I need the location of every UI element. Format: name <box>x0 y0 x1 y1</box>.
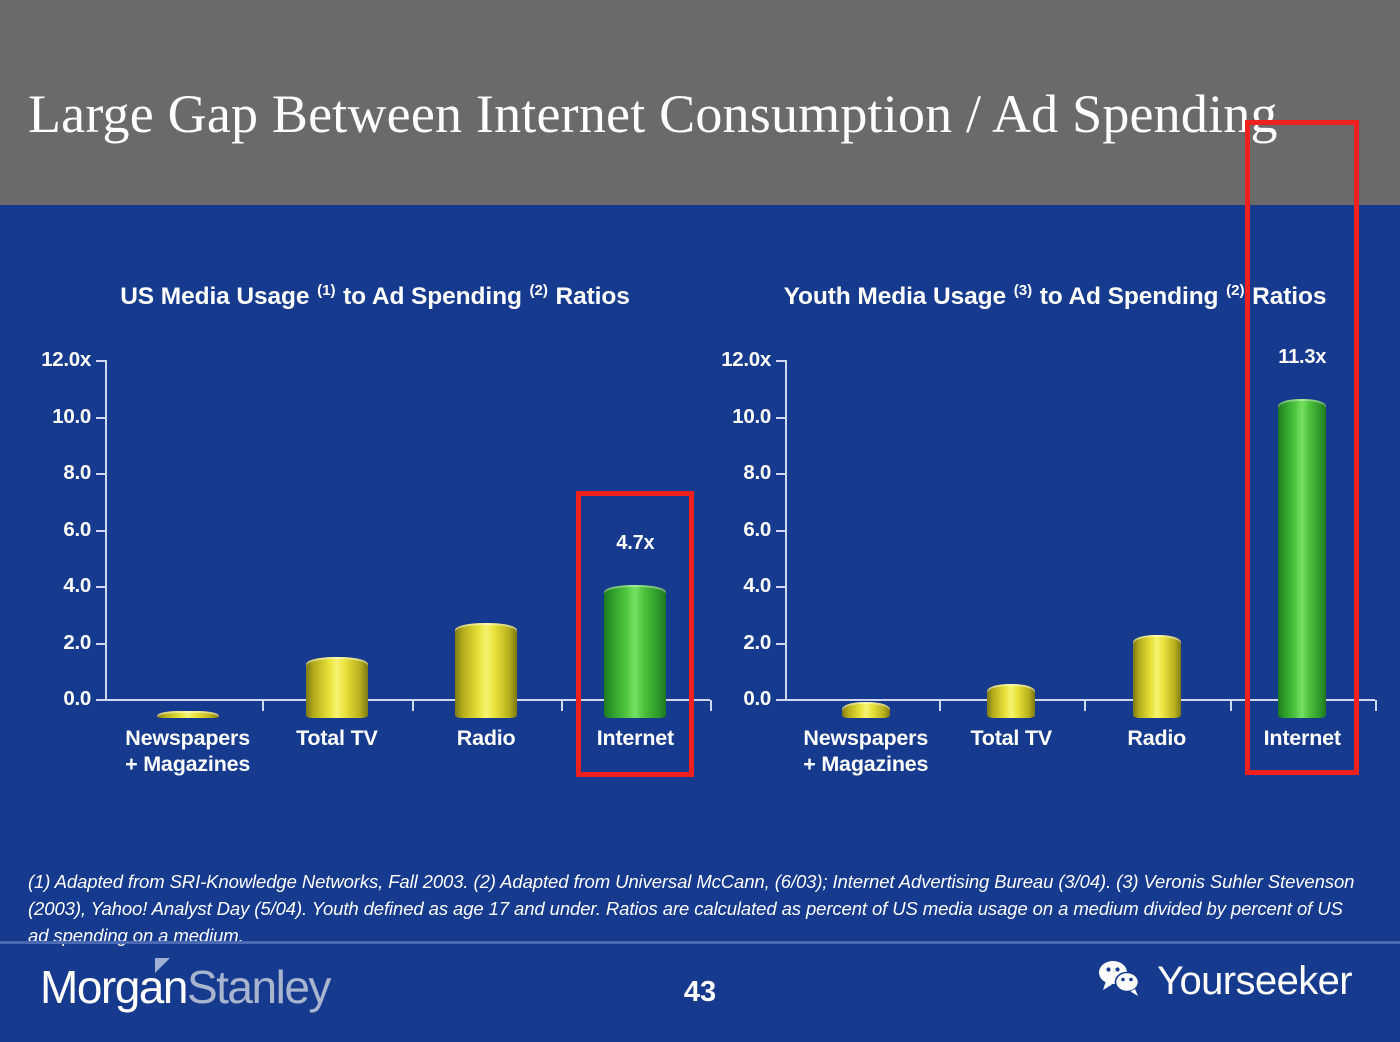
x-axis-tick <box>1084 700 1086 711</box>
x-axis-tick <box>1230 700 1232 711</box>
highlight-box-internet <box>576 491 694 777</box>
y-axis-tick <box>96 360 105 362</box>
y-axis-label: 0.0 <box>743 687 771 711</box>
chart-title-part-b: to Ad Spending <box>1033 283 1225 310</box>
brand-name: Yourseeker <box>1157 961 1352 1001</box>
y-axis-label: 4.0 <box>743 574 771 598</box>
x-axis-label: Total TV <box>296 725 378 751</box>
morgan-stanley-triangle-icon <box>155 958 170 973</box>
chart-title-part-a: US Media Usage <box>120 283 316 310</box>
chart-title-footnote-ref-2: (2) <box>1225 282 1245 299</box>
y-axis-label: 12.0x <box>721 348 771 372</box>
chart-title-footnote-ref-1: (1) <box>316 282 336 299</box>
x-axis-label-line: + Magazines <box>125 751 250 777</box>
x-axis-label-line: Newspapers <box>125 725 250 751</box>
x-axis-label-line: Radio <box>457 725 516 751</box>
x-axis-label: Total TV <box>970 725 1052 751</box>
y-axis-line <box>105 360 107 701</box>
x-axis-label-line: + Magazines <box>803 751 928 777</box>
y-axis-line <box>785 360 787 701</box>
y-axis-tick <box>776 473 785 475</box>
bar-radio <box>455 623 517 718</box>
x-axis-tick <box>262 700 264 711</box>
y-axis-tick <box>96 643 105 645</box>
x-axis-tick <box>561 700 563 711</box>
chart-title-us-media-usage: US Media Usage (1) to Ad Spending (2) Ra… <box>20 280 720 315</box>
x-axis-tick <box>939 700 941 711</box>
chart-panel-us-media-usage: US Media Usage (1) to Ad Spending (2) Ra… <box>20 230 720 830</box>
bar-total-tv <box>987 684 1035 718</box>
y-axis-tick <box>96 417 105 419</box>
y-axis-label: 8.0 <box>63 461 91 485</box>
slide-footer: MorganStanley 43 Yourseeker <box>0 944 1400 1042</box>
page-title: Large Gap Between Internet Consumption /… <box>28 86 1378 143</box>
y-axis-tick <box>776 586 785 588</box>
x-axis-tick <box>412 700 414 711</box>
chart-title-part-a: Youth Media Usage <box>784 283 1013 310</box>
y-axis-label: 10.0 <box>732 405 771 429</box>
y-axis-label: 2.0 <box>63 631 91 655</box>
y-axis-tick <box>96 473 105 475</box>
highlight-box-internet <box>1245 120 1359 775</box>
bar-newspapers-magazines <box>157 711 219 718</box>
brand-watermark: Yourseeker <box>1097 958 1352 1003</box>
chart-title-part-c: Ratios <box>549 283 630 310</box>
footnote-text: (1) Adapted from SRI-Knowledge Networks,… <box>28 868 1368 949</box>
bar-total-tv <box>306 657 368 718</box>
y-axis-tick <box>776 417 785 419</box>
y-axis-tick <box>96 586 105 588</box>
y-axis-label: 6.0 <box>743 518 771 542</box>
y-axis-label: 6.0 <box>63 518 91 542</box>
y-axis-label: 4.0 <box>63 574 91 598</box>
bar-newspapers-magazines <box>842 702 890 718</box>
chart-title-footnote-ref-3: (3) <box>1013 282 1033 299</box>
plot-area-us-media-usage: 0.02.04.06.08.010.012.0xNewspapers+ Maga… <box>105 360 710 720</box>
y-axis-label: 2.0 <box>743 631 771 655</box>
x-axis-label-line: Total TV <box>970 725 1052 751</box>
wechat-icon <box>1097 958 1145 1003</box>
x-axis-label-line: Newspapers <box>803 725 928 751</box>
y-axis-tick <box>776 530 785 532</box>
plot-area-youth-media-usage: 0.02.04.06.08.010.012.0xNewspapers+ Maga… <box>785 360 1375 720</box>
y-axis-tick <box>96 699 105 701</box>
chart-title-part-b: to Ad Spending <box>336 283 528 310</box>
y-axis-tick <box>776 360 785 362</box>
x-axis-label-line: Total TV <box>296 725 378 751</box>
x-axis-tick <box>710 700 712 711</box>
x-axis-label-line: Radio <box>1127 725 1186 751</box>
y-axis-tick <box>776 643 785 645</box>
x-axis-label: Newspapers+ Magazines <box>125 725 250 777</box>
bar-radio <box>1133 635 1181 718</box>
y-axis-label: 10.0 <box>52 405 91 429</box>
x-axis-label: Radio <box>1127 725 1186 751</box>
chart-title-footnote-ref-2: (2) <box>529 282 549 299</box>
x-axis-tick <box>1375 700 1377 711</box>
y-axis-label: 12.0x <box>41 348 91 372</box>
y-axis-tick <box>776 699 785 701</box>
y-axis-label: 0.0 <box>63 687 91 711</box>
slide: Large Gap Between Internet Consumption /… <box>0 0 1400 1042</box>
y-axis-tick <box>96 530 105 532</box>
slide-header: Large Gap Between Internet Consumption /… <box>0 0 1400 205</box>
x-axis-label: Newspapers+ Magazines <box>803 725 928 777</box>
y-axis-label: 8.0 <box>743 461 771 485</box>
x-axis-label: Radio <box>457 725 516 751</box>
chart-panel-youth-media-usage: Youth Media Usage (3) to Ad Spending (2)… <box>715 230 1395 830</box>
